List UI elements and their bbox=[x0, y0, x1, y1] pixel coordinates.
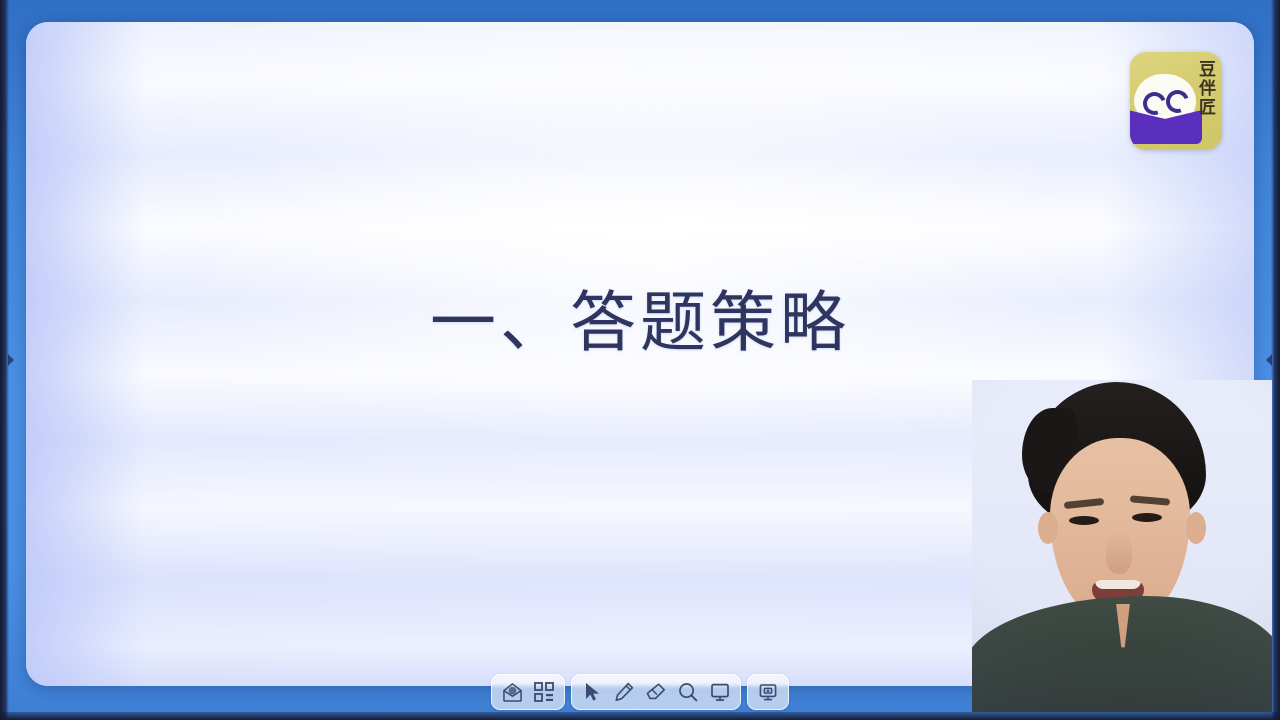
presenter-eye-left bbox=[1069, 516, 1099, 525]
chevron-left-icon bbox=[1264, 353, 1274, 367]
mail-icon bbox=[502, 683, 523, 702]
eraser-tool-button[interactable] bbox=[641, 678, 671, 706]
pen-icon bbox=[614, 682, 634, 702]
cursor-arrow-icon bbox=[584, 682, 601, 702]
brand-logo: 豆伴匠 bbox=[1130, 52, 1222, 150]
present-button[interactable] bbox=[753, 678, 783, 706]
bottom-toolbar bbox=[491, 674, 789, 710]
presenter-ear-right bbox=[1186, 512, 1206, 544]
presenter-nose bbox=[1106, 532, 1132, 574]
slide-background-glow bbox=[173, 49, 1106, 447]
eraser-icon bbox=[646, 682, 666, 702]
page-title: 一、答题策略 bbox=[26, 284, 1254, 363]
toolbar-group-presentation bbox=[747, 674, 789, 710]
right-panel-handle[interactable] bbox=[1262, 338, 1276, 382]
qr-code-icon bbox=[534, 682, 554, 702]
presentation-screen-icon bbox=[758, 682, 778, 702]
pen-tool-button[interactable] bbox=[609, 678, 639, 706]
left-panel-handle[interactable] bbox=[4, 338, 18, 382]
monitor-icon bbox=[710, 682, 730, 702]
presenter-ear-left bbox=[1038, 512, 1058, 544]
whiteboard-button[interactable] bbox=[705, 678, 735, 706]
presenter-eye-right bbox=[1132, 513, 1162, 522]
window-edge-bottom bbox=[0, 712, 1280, 720]
brand-name: 豆伴匠 bbox=[1193, 60, 1215, 117]
toolbar-group-message bbox=[491, 674, 565, 710]
magnifier-icon bbox=[678, 682, 698, 702]
mail-button[interactable] bbox=[497, 678, 527, 706]
chevron-right-icon bbox=[6, 353, 16, 367]
toolbar-group-annotation bbox=[571, 674, 741, 710]
presenter-video-overlay[interactable] bbox=[972, 380, 1272, 712]
select-tool-button[interactable] bbox=[577, 678, 607, 706]
qr-code-button[interactable] bbox=[529, 678, 559, 706]
app-window: 一、答题策略 豆伴匠 bbox=[0, 0, 1280, 720]
magnifier-tool-button[interactable] bbox=[673, 678, 703, 706]
